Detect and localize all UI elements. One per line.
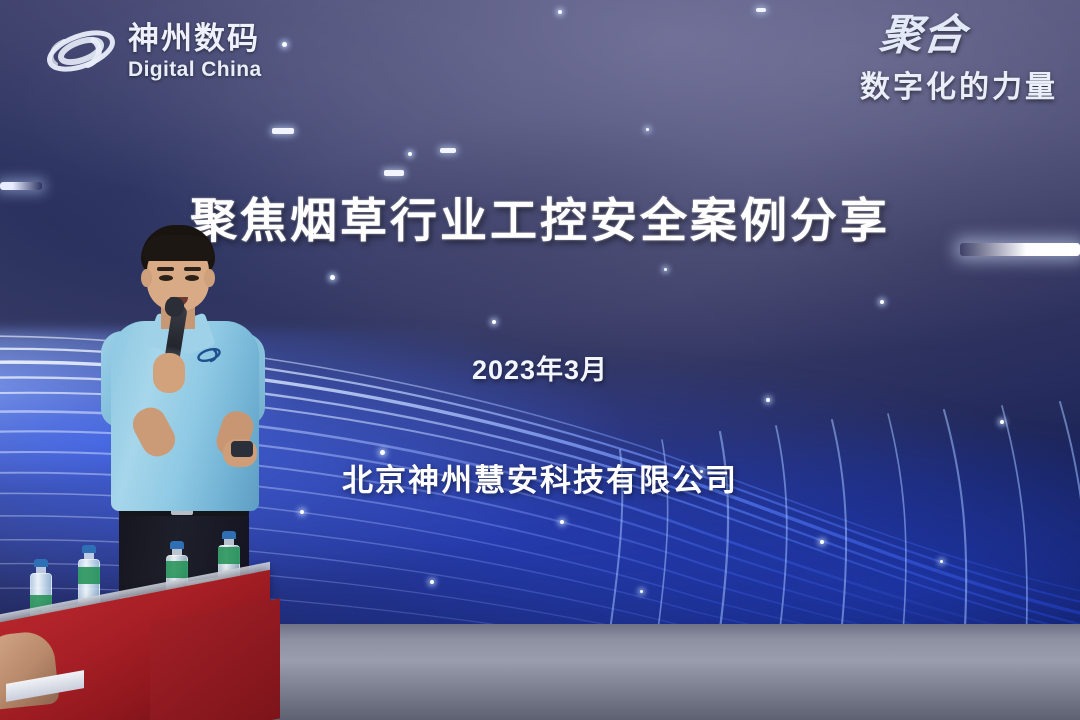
sparkle-particle [430,580,434,584]
swirl-logo-icon [44,20,118,82]
bottle-label [78,567,100,584]
brand-name-cn: 神州数码 [128,23,262,54]
speaker-ear-right [204,269,215,287]
bottle-cap [170,541,184,549]
brand-name-en: Digital China [128,59,262,80]
speaker-hand-left [153,353,185,393]
sparkle-particle [880,300,884,304]
sparkle-particle [640,590,643,593]
speaker-eye-right [185,275,199,281]
sparkle-particle [820,540,824,544]
event-slogan-logo: 聚合 数字化的力量 [860,14,1058,106]
speaker-eye-left [159,275,173,281]
chest-logo-icon [196,345,222,365]
sparkle-streak [440,148,456,153]
presentation-clicker-icon [231,441,253,457]
digital-china-logo: 神州数码 Digital China [44,20,262,82]
sparkle-streak [272,128,294,134]
sparkle-particle [330,275,335,280]
bottle-cap [222,531,236,539]
sparkle-particle [300,510,304,514]
sparkle-particle [492,320,496,324]
sparkle-streak [756,8,766,12]
presentation-photo: 神州数码 Digital China 聚合 数字化的力量 聚焦烟草行业工控安全案… [0,0,1080,720]
sparkle-particle [940,560,943,563]
sparkle-particle [1000,420,1004,424]
speaker-eyebrow-right [184,267,201,271]
slogan-subline: 数字化的力量 [860,62,1058,106]
sparkle-particle [282,42,287,47]
speaker-hair-front [143,235,213,261]
sparkle-particle [646,128,649,131]
sparkle-particle [766,398,770,402]
speaker-eyebrow-left [157,267,174,271]
sparkle-particle [560,520,564,524]
bottle-cap [82,545,96,553]
speaker-ear-left [141,269,152,287]
sparkle-particle [664,268,667,271]
sparkle-particle [558,10,562,14]
sparkle-particle [408,152,412,156]
bottle-cap [34,559,48,567]
bottle-label [218,547,240,564]
foreground-head-table [0,545,300,720]
sparkle-streak [384,170,404,176]
slogan-headline: 聚合 [878,14,968,56]
digital-china-wordmark: 神州数码 Digital China [128,23,262,80]
bottle-label [166,561,188,578]
